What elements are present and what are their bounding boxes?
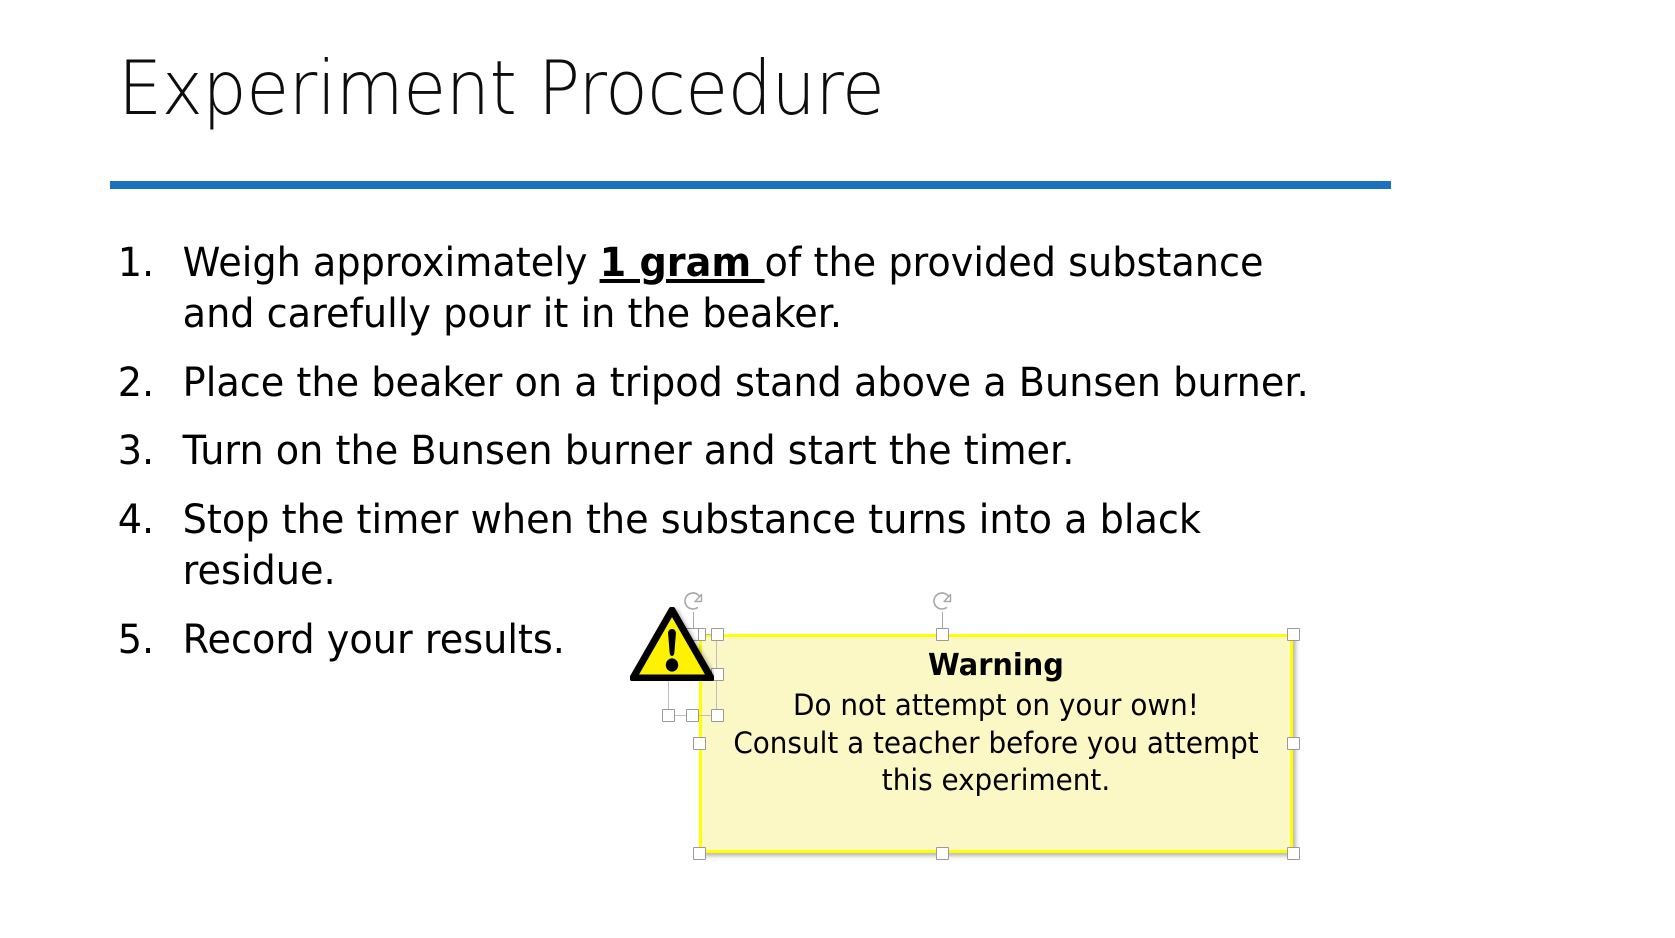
list-item[interactable]: 1. Weigh approximately 1 gram of the pro… [112, 238, 1334, 340]
list-item[interactable]: 2. Place the beaker on a tripod stand ab… [112, 358, 1334, 409]
warning-line-2: Consult a teacher before you attempt thi… [723, 725, 1268, 800]
textbox-rotation-handle[interactable] [929, 588, 955, 614]
list-item-text: Stop the timer when the substance turns … [183, 495, 1335, 597]
page-title[interactable]: Experiment Procedure [118, 48, 1327, 129]
title-divider-rule [110, 181, 1391, 189]
list-item-text: Turn on the Bunsen burner and start the … [183, 426, 1335, 477]
list-item-number: 4. [118, 495, 171, 546]
list-item-number: 3. [118, 426, 171, 477]
textbox-handle-bottom-left[interactable] [693, 847, 706, 860]
triangle-handle-bottom-center[interactable] [686, 709, 699, 722]
procedure-list[interactable]: 1. Weigh approximately 1 gram of the pro… [112, 238, 1392, 684]
warning-line-1: Do not attempt on your own! [723, 687, 1268, 725]
powerpoint-slide-canvas: Experiment Procedure 1. Weigh approximat… [0, 0, 1675, 938]
textbox-handle-top-right[interactable] [1287, 628, 1300, 641]
textbox-handle-middle-right[interactable] [1287, 737, 1300, 750]
list-item-text: Place the beaker on a tripod stand above… [183, 358, 1335, 409]
triangle-handle-bottom-right[interactable] [711, 709, 724, 722]
triangle-handle-bottom-left[interactable] [662, 709, 675, 722]
textbox-handle-bottom-right[interactable] [1287, 847, 1300, 860]
list-item[interactable]: 3. Turn on the Bunsen burner and start t… [112, 426, 1334, 477]
warning-textbox-content: Warning Do not attempt on your own! Cons… [702, 637, 1290, 800]
textbox-handle-top-center[interactable] [936, 628, 949, 641]
textbox-handle-bottom-center[interactable] [936, 847, 949, 860]
list-item-text: Weigh approximately 1 gram of the provid… [183, 238, 1335, 340]
list-item-number: 2. [118, 358, 171, 409]
list-item-number: 5. [118, 615, 171, 666]
warning-triangle-icon[interactable] [630, 607, 714, 681]
list-item-number: 1. [118, 238, 171, 289]
warning-textbox[interactable]: Warning Do not attempt on your own! Cons… [699, 634, 1293, 853]
warning-heading: Warning [723, 646, 1268, 685]
list-item-emphasis: 1 gram [600, 240, 765, 286]
list-item[interactable]: 4. Stop the timer when the substance tur… [112, 495, 1334, 597]
list-item-text-before: Weigh approximately [183, 240, 600, 286]
textbox-handle-middle-left[interactable] [693, 737, 706, 750]
